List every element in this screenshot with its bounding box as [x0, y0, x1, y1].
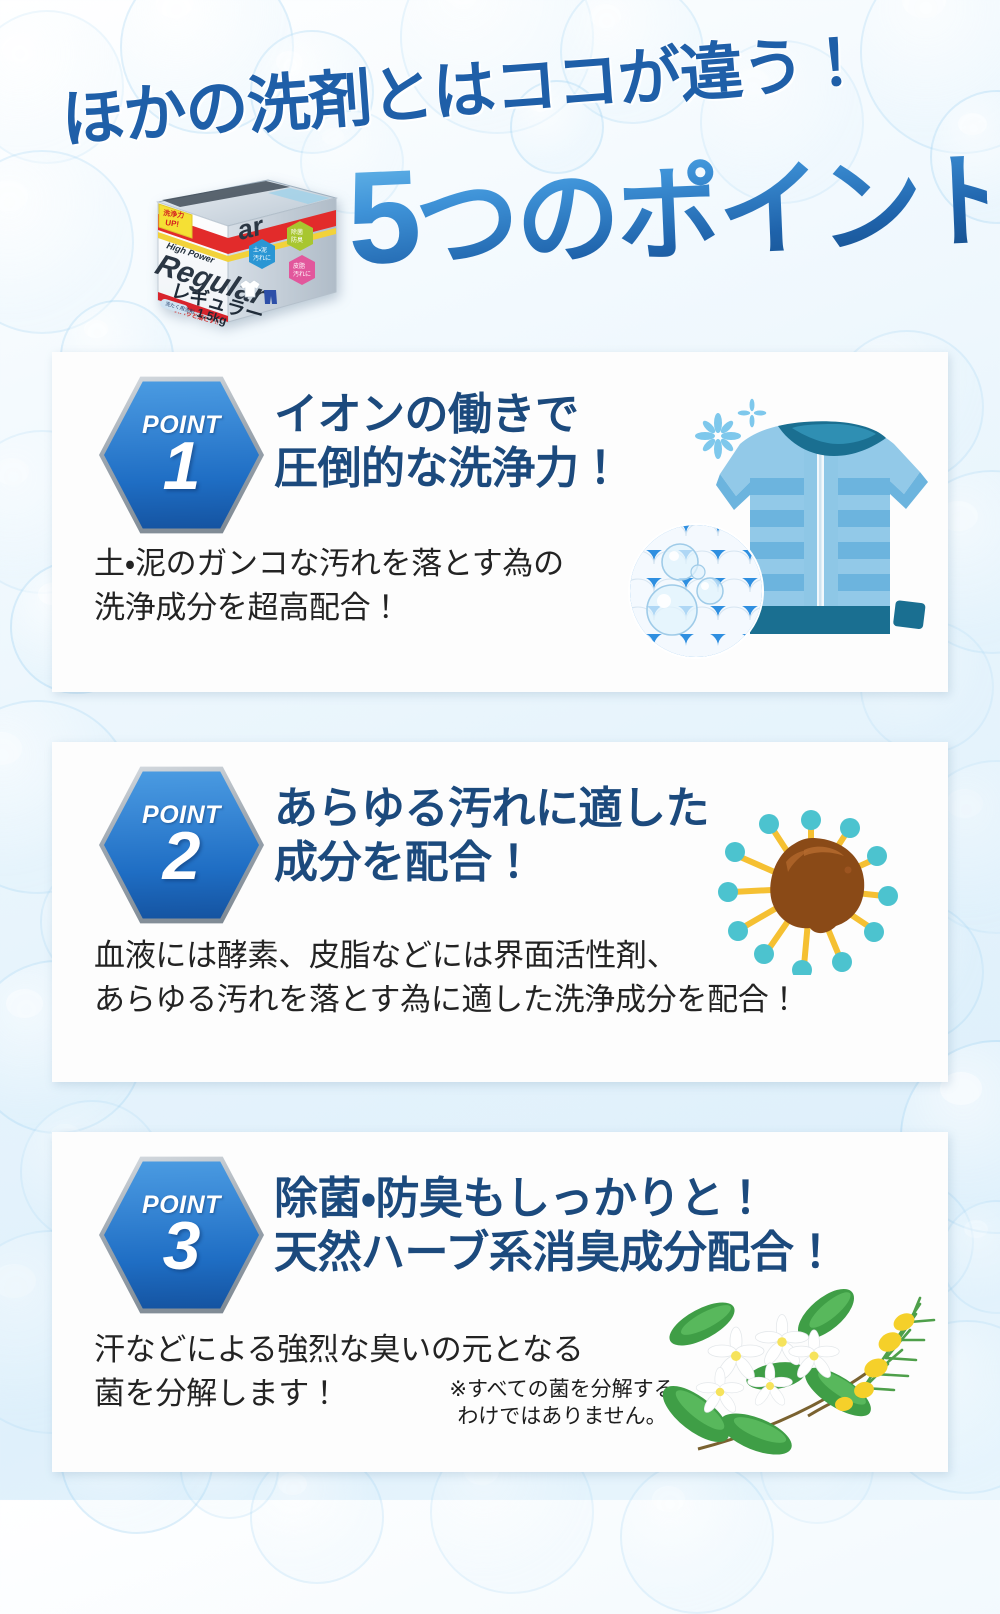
dirt-germ-illustration [716, 800, 906, 975]
point-badge-number-1: 1 [104, 432, 259, 500]
svg-text:防臭: 防臭 [291, 236, 303, 244]
svg-text:土・泥: 土・泥 [253, 246, 267, 254]
page-headline: ほかの洗剤とはココが違う！ [58, 7, 922, 161]
point-card-3: POINT 3 除菌・防臭もしっかりと！ 天然ハーブ系消臭成分配合！ 汗などによ… [52, 1132, 948, 1472]
point-title-3-line1: 除菌・防臭もしっかりと！ [274, 1172, 934, 1226]
point-badge-number-2: 2 [104, 822, 259, 890]
point-badge-2: POINT 2 [104, 770, 259, 920]
herb-illustration [658, 1264, 948, 1469]
bubble-decoration [0, 150, 134, 334]
svg-text:UP!: UP! [165, 218, 180, 229]
product-package-image: 洗浄力 UP! High Power Regular ar レギュラー "硬固"… [140, 172, 340, 327]
bubble-decoration [940, 1200, 1000, 1314]
point-badge-3: POINT 3 [104, 1160, 259, 1310]
svg-text:皮脂: 皮脂 [293, 262, 305, 270]
svg-text:汚れに: 汚れに [293, 270, 311, 278]
svg-text:汚れに: 汚れに [253, 254, 271, 262]
big-title-rest: つのポイント [413, 143, 1000, 284]
page-title: 5つのポイント [345, 133, 989, 280]
point-badge-1: POINT 1 [104, 380, 259, 530]
point-card-2: POINT 2 あらゆる汚れに適した 成分を配合！ 血液には酵素、皮脂などには界… [52, 742, 948, 1082]
jacket-illustration [628, 386, 938, 676]
point-body-2-line2: あらゆる汚れを落とす為に適した洗浄成分を配合！ [94, 978, 914, 1022]
point-card-1: POINT 1 イオンの働きで 圧倒的な洗浄力！ 土・泥のガンコな汚れを落とす為… [52, 352, 948, 692]
bubble-decoration [620, 1460, 774, 1614]
point-badge-number-3: 3 [104, 1212, 259, 1280]
big-number: 5 [344, 142, 418, 292]
svg-text:除菌: 除菌 [291, 228, 303, 236]
